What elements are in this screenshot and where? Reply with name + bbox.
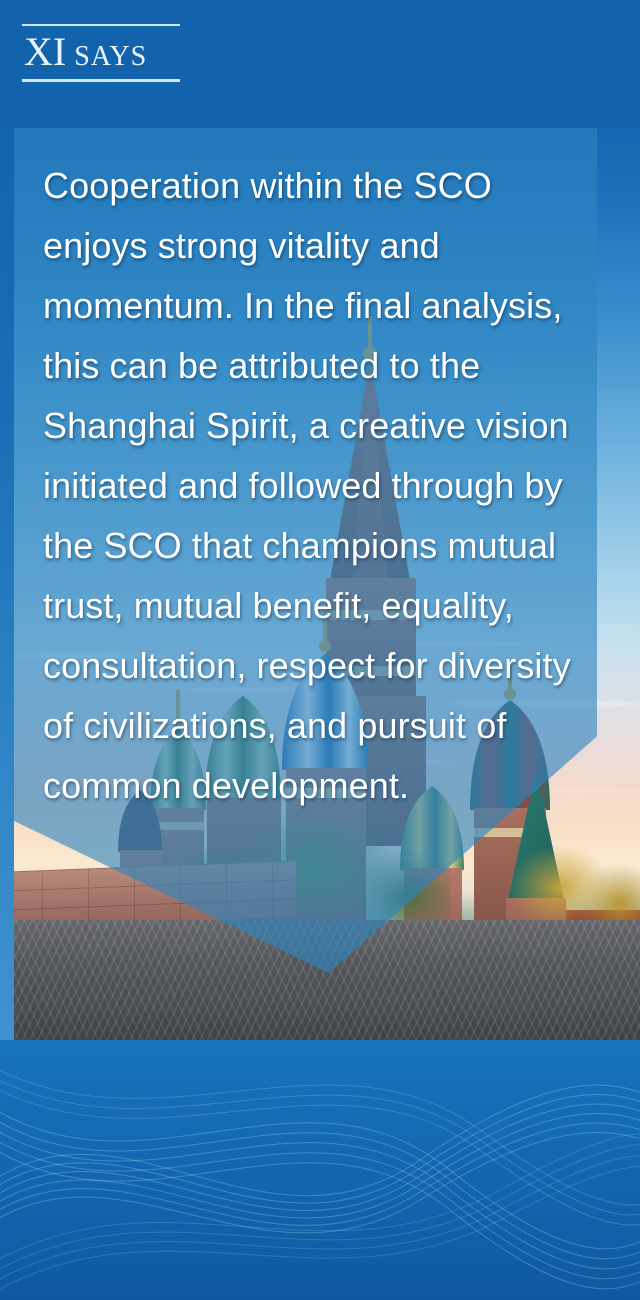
brand-primary-text: XI xyxy=(24,29,66,74)
brand-rule-top xyxy=(22,24,180,26)
brand-lockup[interactable]: XISAYS xyxy=(22,24,180,82)
footer-wave-band xyxy=(0,1040,640,1300)
quote-text: Cooperation within the SCO enjoys strong… xyxy=(43,156,593,816)
brand-secondary-text: SAYS xyxy=(74,41,147,72)
brand-rule-bottom xyxy=(22,79,180,82)
poster-canvas: XISAYS xyxy=(0,0,640,1300)
brand-wordmark: XISAYS xyxy=(22,30,180,76)
photo-left-edge xyxy=(0,110,14,1040)
header-bar: XISAYS xyxy=(0,0,640,128)
wave-lines-graphic xyxy=(0,1040,640,1300)
